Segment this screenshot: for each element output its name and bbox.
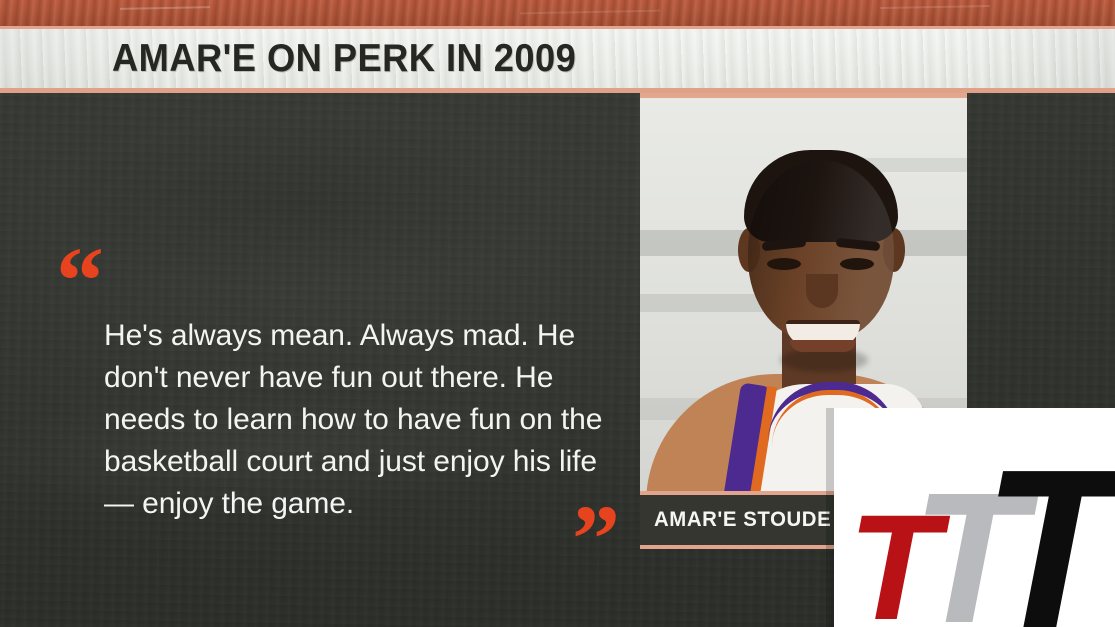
quote-text: He's always mean. Always mad. He don't n… <box>104 315 626 525</box>
title-bar: AMAR'E ON PERK IN 2009 <box>0 26 1115 93</box>
ttt-logo-letters: T T T <box>834 408 1115 627</box>
background-smudge <box>40 115 560 295</box>
quote-open-icon: “ <box>56 233 100 329</box>
content-panel: “ ” He's always mean. Always mad. He don… <box>0 93 1115 627</box>
nose <box>806 274 838 308</box>
ttt-logo-letter-black: T <box>982 436 1115 627</box>
wood-streak <box>120 6 210 10</box>
broadcast-graphic-stage: AMAR'E ON PERK IN 2009 “ ” He's always m… <box>0 0 1115 627</box>
eye-right <box>840 258 874 270</box>
page-title: AMAR'E ON PERK IN 2009 <box>112 37 576 81</box>
top-wood-band <box>0 0 1115 26</box>
wood-streak <box>880 5 990 9</box>
eye-left <box>767 258 801 270</box>
ttt-logo: T T T <box>834 408 1115 627</box>
attribution-name: AMAR'E STOUDE <box>654 508 831 532</box>
wood-streak <box>520 10 660 15</box>
lower-lip <box>790 340 856 352</box>
head-shading <box>748 160 894 342</box>
